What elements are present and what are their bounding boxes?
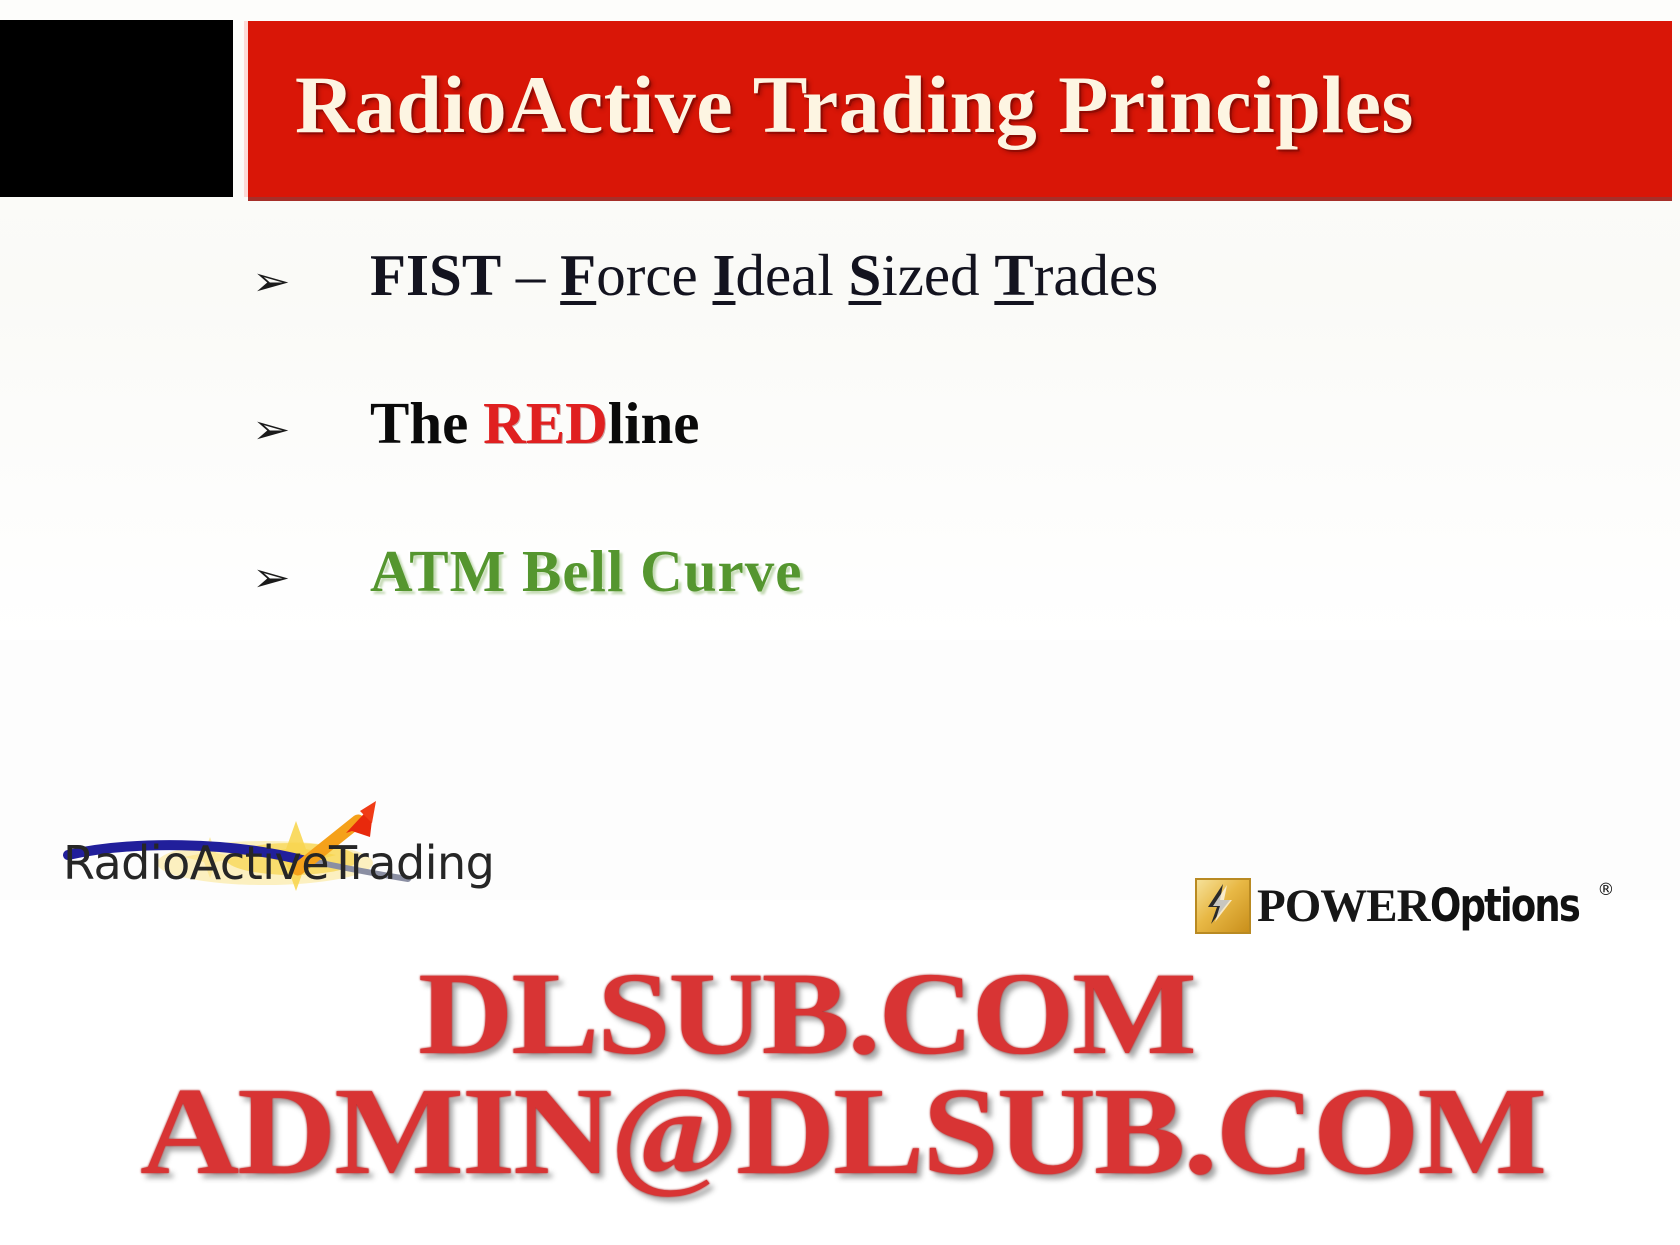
redline-word-the: The	[370, 390, 483, 456]
list-item: ➢ ATM Bell Curve	[0, 542, 1680, 690]
list-item-label-redline: The REDline	[370, 394, 1680, 453]
fist-word-sized: ized	[881, 242, 994, 308]
redline-word-red: RED	[483, 390, 608, 456]
fist-cap-s: S	[849, 242, 882, 308]
fist-cap-t: T	[994, 242, 1033, 308]
lightning-bolt-icon	[1195, 878, 1251, 934]
fist-dash: –	[501, 242, 560, 308]
list-item: ➢ FIST – Force Ideal Sized Trades	[0, 246, 1680, 394]
principles-list: ➢ FIST – Force Ideal Sized Trades ➢ The …	[0, 246, 1680, 690]
arrowhead-bullet-icon: ➢	[252, 410, 321, 450]
list-item-label-atm: ATM Bell Curve	[370, 542, 1680, 601]
poweroptions-logo: POWER Options ®	[1195, 878, 1614, 934]
fist-word-trades: rades	[1034, 242, 1158, 308]
atm-bell-curve-text: ATM Bell Curve	[370, 538, 802, 604]
arrowhead-bullet-icon: ➢	[252, 558, 321, 598]
list-item: ➢ The REDline	[0, 394, 1680, 542]
page-title: RadioActive Trading Principles	[295, 55, 1635, 155]
header-black-block	[0, 20, 233, 197]
fist-word-ideal: deal	[735, 242, 848, 308]
radioactive-trading-wordmark: RadioActiveTrading	[63, 837, 494, 889]
fist-cap-i: I	[713, 242, 736, 308]
radioactive-trading-logo: RadioActiveTrading	[60, 775, 470, 900]
arrowhead-bullet-icon: ➢	[252, 262, 321, 302]
fist-word-force: orce	[596, 242, 712, 308]
redline-word-line: line	[608, 390, 700, 456]
poweroptions-word-options: Options	[1430, 881, 1579, 931]
fist-acronym: FIST	[370, 242, 501, 308]
fist-cap-f: F	[560, 242, 596, 308]
slide-canvas: RadioActive Trading Principles ➢ FIST – …	[0, 0, 1680, 1245]
poweroptions-word-power: POWER	[1257, 881, 1430, 931]
watermark-email: ADMIN@DLSUB.COM	[140, 1070, 1545, 1195]
list-item-label-fist: FIST – Force Ideal Sized Trades	[370, 246, 1680, 305]
registered-trademark-icon: ®	[1597, 882, 1614, 899]
watermark-site: DLSUB.COM	[418, 955, 1195, 1073]
